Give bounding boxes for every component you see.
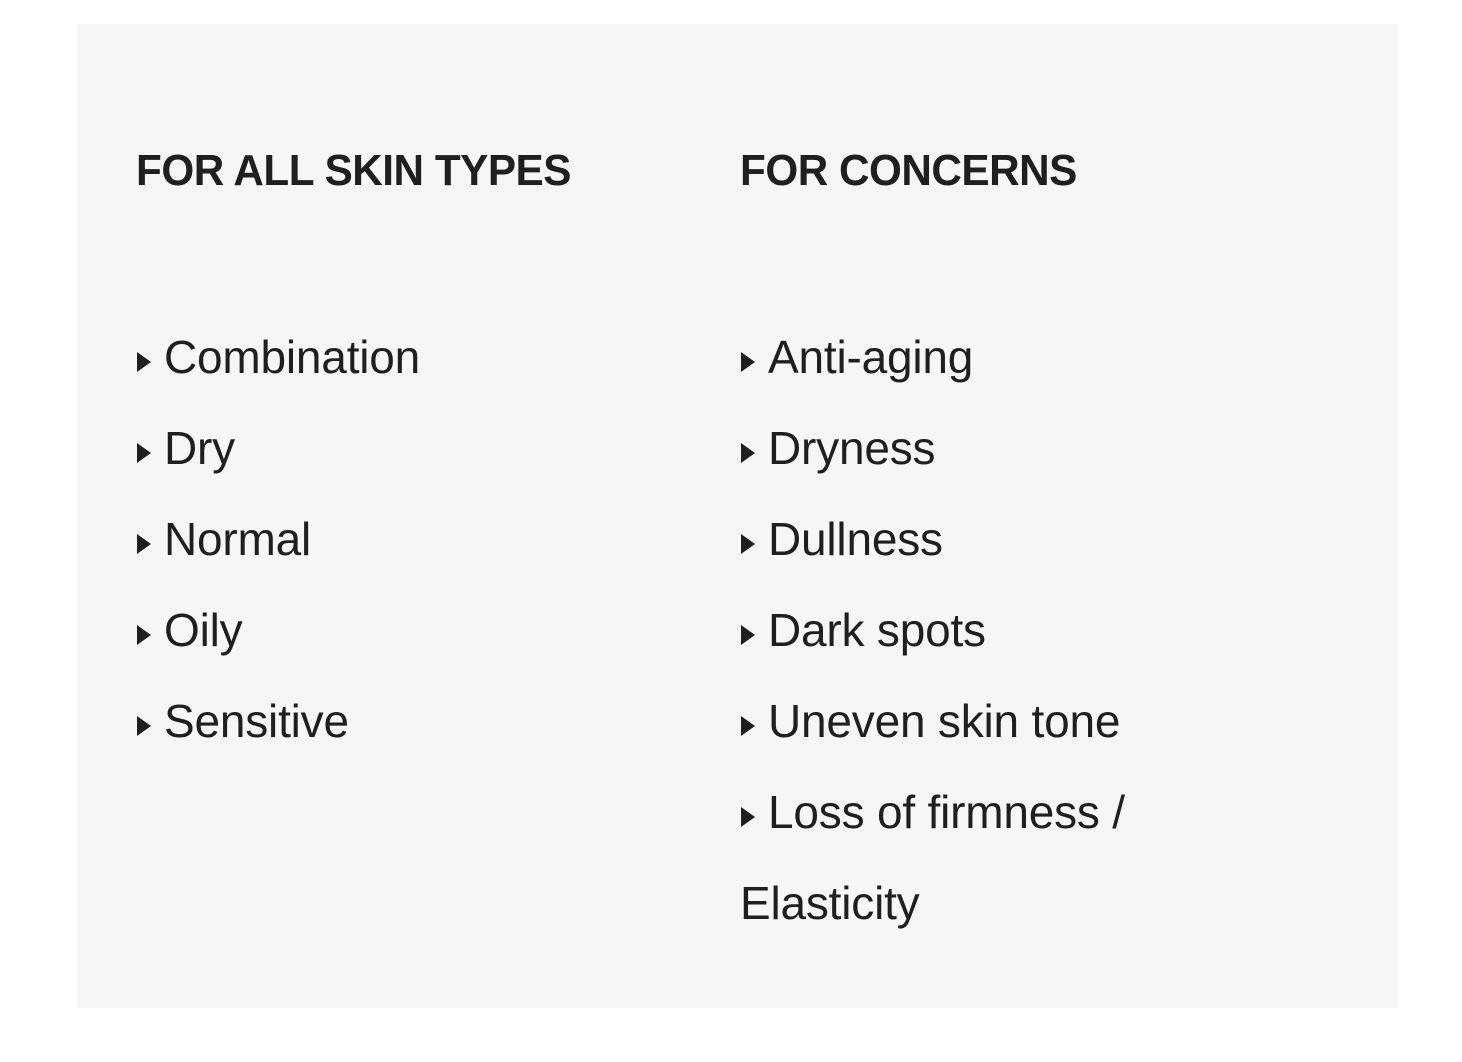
list-item-label: Normal <box>164 513 311 565</box>
triangle-right-icon <box>740 443 756 463</box>
triangle-right-icon <box>136 352 152 372</box>
list-item-label: Anti-aging <box>768 331 973 383</box>
list-item[interactable]: Oily <box>136 585 738 676</box>
list-item-label: Uneven skin tone <box>768 695 1120 747</box>
triangle-right-icon <box>136 625 152 645</box>
triangle-right-icon <box>136 443 152 463</box>
list-item[interactable]: Sensitive <box>136 676 738 767</box>
list-item[interactable]: Combination <box>136 312 738 403</box>
filter-columns: FOR ALL SKIN TYPES Combination Dry Norma… <box>136 148 1298 949</box>
list-item-label: Dullness <box>768 513 943 565</box>
concern-list: Anti-aging Dryness Dullness Dark spots U… <box>740 312 1298 949</box>
list-item-label: Loss of firmness / Elasticity <box>740 786 1125 929</box>
list-item[interactable]: Loss of firmness / Elasticity <box>740 767 1210 949</box>
column-heading-concerns: FOR CONCERNS <box>740 148 1276 194</box>
triangle-right-icon <box>740 534 756 554</box>
list-item-label: Dryness <box>768 422 935 474</box>
skin-type-list: Combination Dry Normal Oily Sensitive <box>136 312 738 767</box>
triangle-right-icon <box>740 716 756 736</box>
list-item[interactable]: Dry <box>136 403 738 494</box>
list-item-label: Combination <box>164 331 420 383</box>
list-item[interactable]: Uneven skin tone <box>740 676 1298 767</box>
list-item[interactable]: Dark spots <box>740 585 1298 676</box>
list-item-label: Oily <box>164 604 242 656</box>
list-item-label: Dry <box>164 422 235 474</box>
triangle-right-icon <box>740 352 756 372</box>
triangle-right-icon <box>136 534 152 554</box>
list-item[interactable]: Anti-aging <box>740 312 1298 403</box>
column-concerns: FOR CONCERNS Anti-aging Dryness Dullness… <box>738 148 1298 949</box>
skin-filter-panel: FOR ALL SKIN TYPES Combination Dry Norma… <box>77 24 1398 1008</box>
list-item[interactable]: Normal <box>136 494 738 585</box>
list-item-label: Sensitive <box>164 695 349 747</box>
column-heading-skin-types: FOR ALL SKIN TYPES <box>136 148 714 194</box>
list-item-label: Dark spots <box>768 604 986 656</box>
column-skin-types: FOR ALL SKIN TYPES Combination Dry Norma… <box>136 148 738 767</box>
triangle-right-icon <box>136 716 152 736</box>
triangle-right-icon <box>740 807 756 827</box>
list-item[interactable]: Dryness <box>740 403 1298 494</box>
triangle-right-icon <box>740 625 756 645</box>
list-item[interactable]: Dullness <box>740 494 1298 585</box>
